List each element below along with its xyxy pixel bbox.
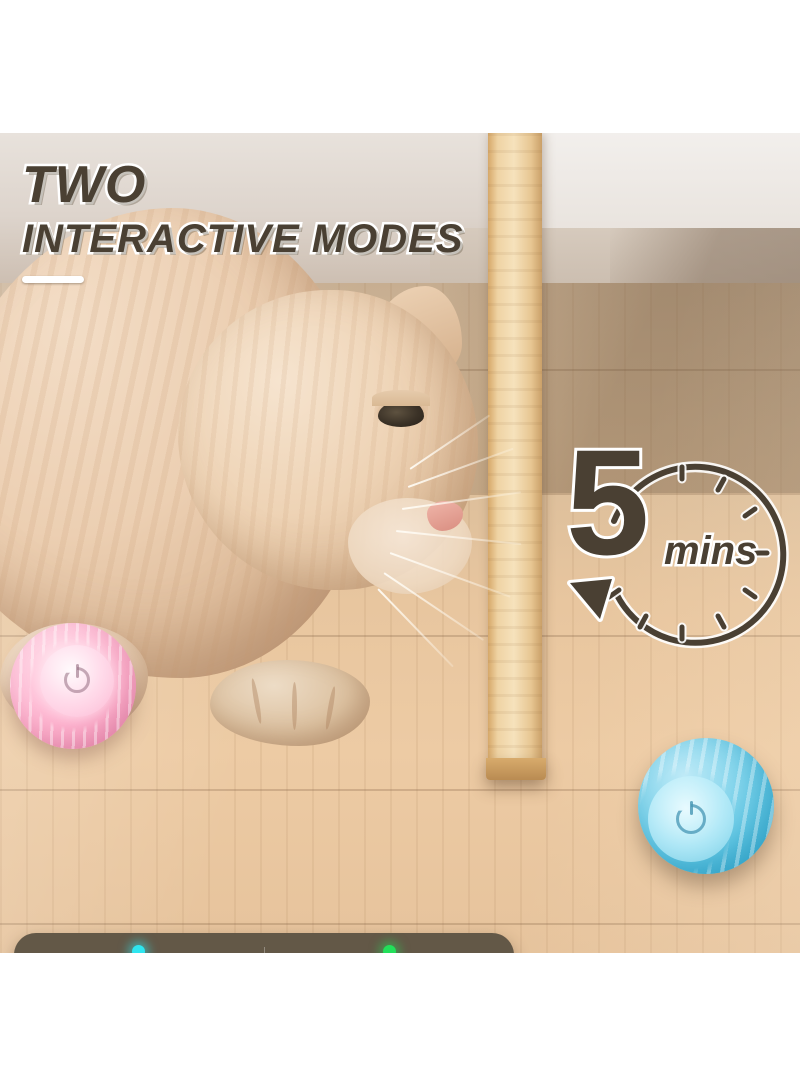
green-led-dot [383, 945, 396, 953]
blue-cat-toy-ball[interactable] [638, 738, 774, 874]
product-photo-scene: TWO INTERACTIVE MODES [0, 133, 800, 953]
timer-unit: mins [664, 529, 757, 574]
headline-block: TWO INTERACTIVE MODES [22, 158, 463, 283]
power-button-icon [64, 667, 90, 693]
mode-panel: Intelligent Mode Work 5min Automatic Clo… [14, 933, 514, 953]
mode-column-intelligent[interactable]: Intelligent Mode Work 5min Automatic Clo… [14, 933, 264, 953]
headline-line-2: INTERACTIVE MODES [22, 216, 463, 262]
pink-cat-toy-ball[interactable] [10, 623, 136, 749]
power-button-icon [676, 804, 706, 834]
cat-paw-rear [210, 660, 370, 746]
headline-underline [22, 276, 84, 283]
timer-value: 5 [566, 427, 649, 577]
cat-eyelid [372, 390, 430, 406]
mode-column-normal[interactable]: Normal Mode Work 5min Touch Open [265, 933, 515, 953]
timer-graphic: 5 mins [556, 433, 800, 673]
cyan-led-dot [132, 945, 145, 953]
headline-line-1: TWO [22, 158, 463, 212]
table-leg-foot [486, 758, 546, 780]
